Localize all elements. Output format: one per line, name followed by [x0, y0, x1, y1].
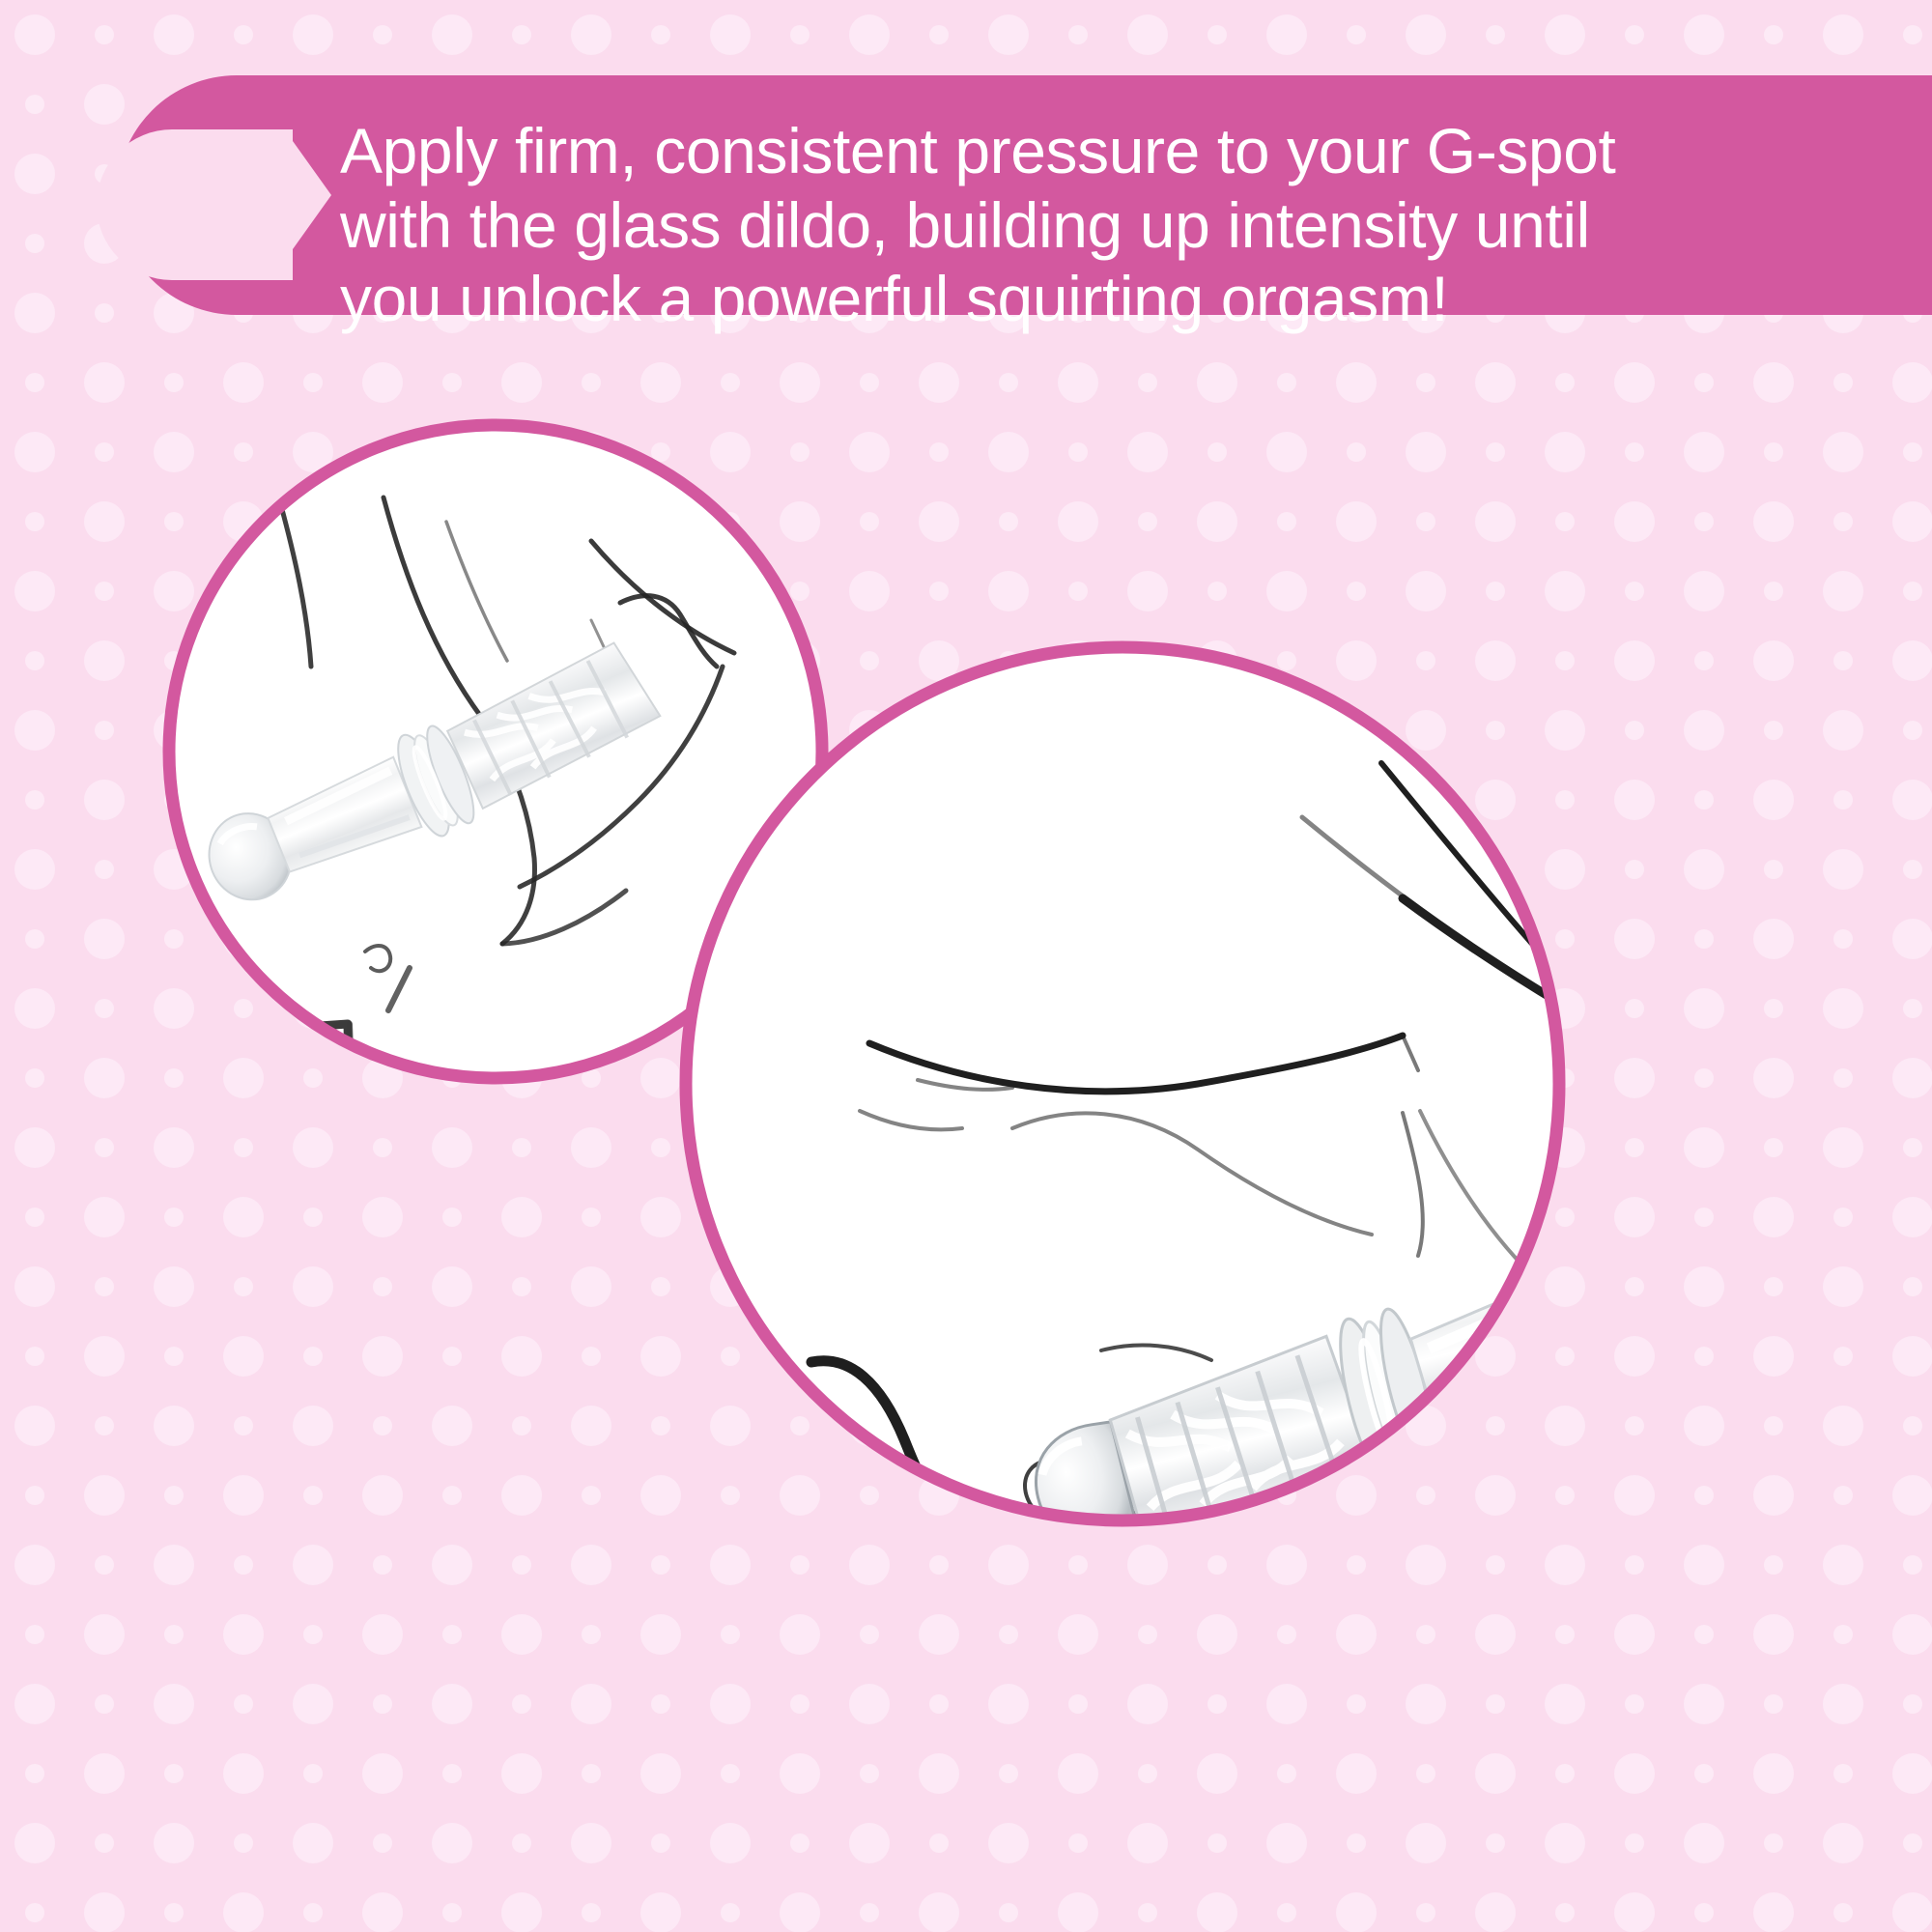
poster-stage: Apply firm, consistent pressure to your … — [0, 0, 1932, 1932]
instruction-callout-text: Apply firm, consistent pressure to your … — [340, 114, 1789, 336]
